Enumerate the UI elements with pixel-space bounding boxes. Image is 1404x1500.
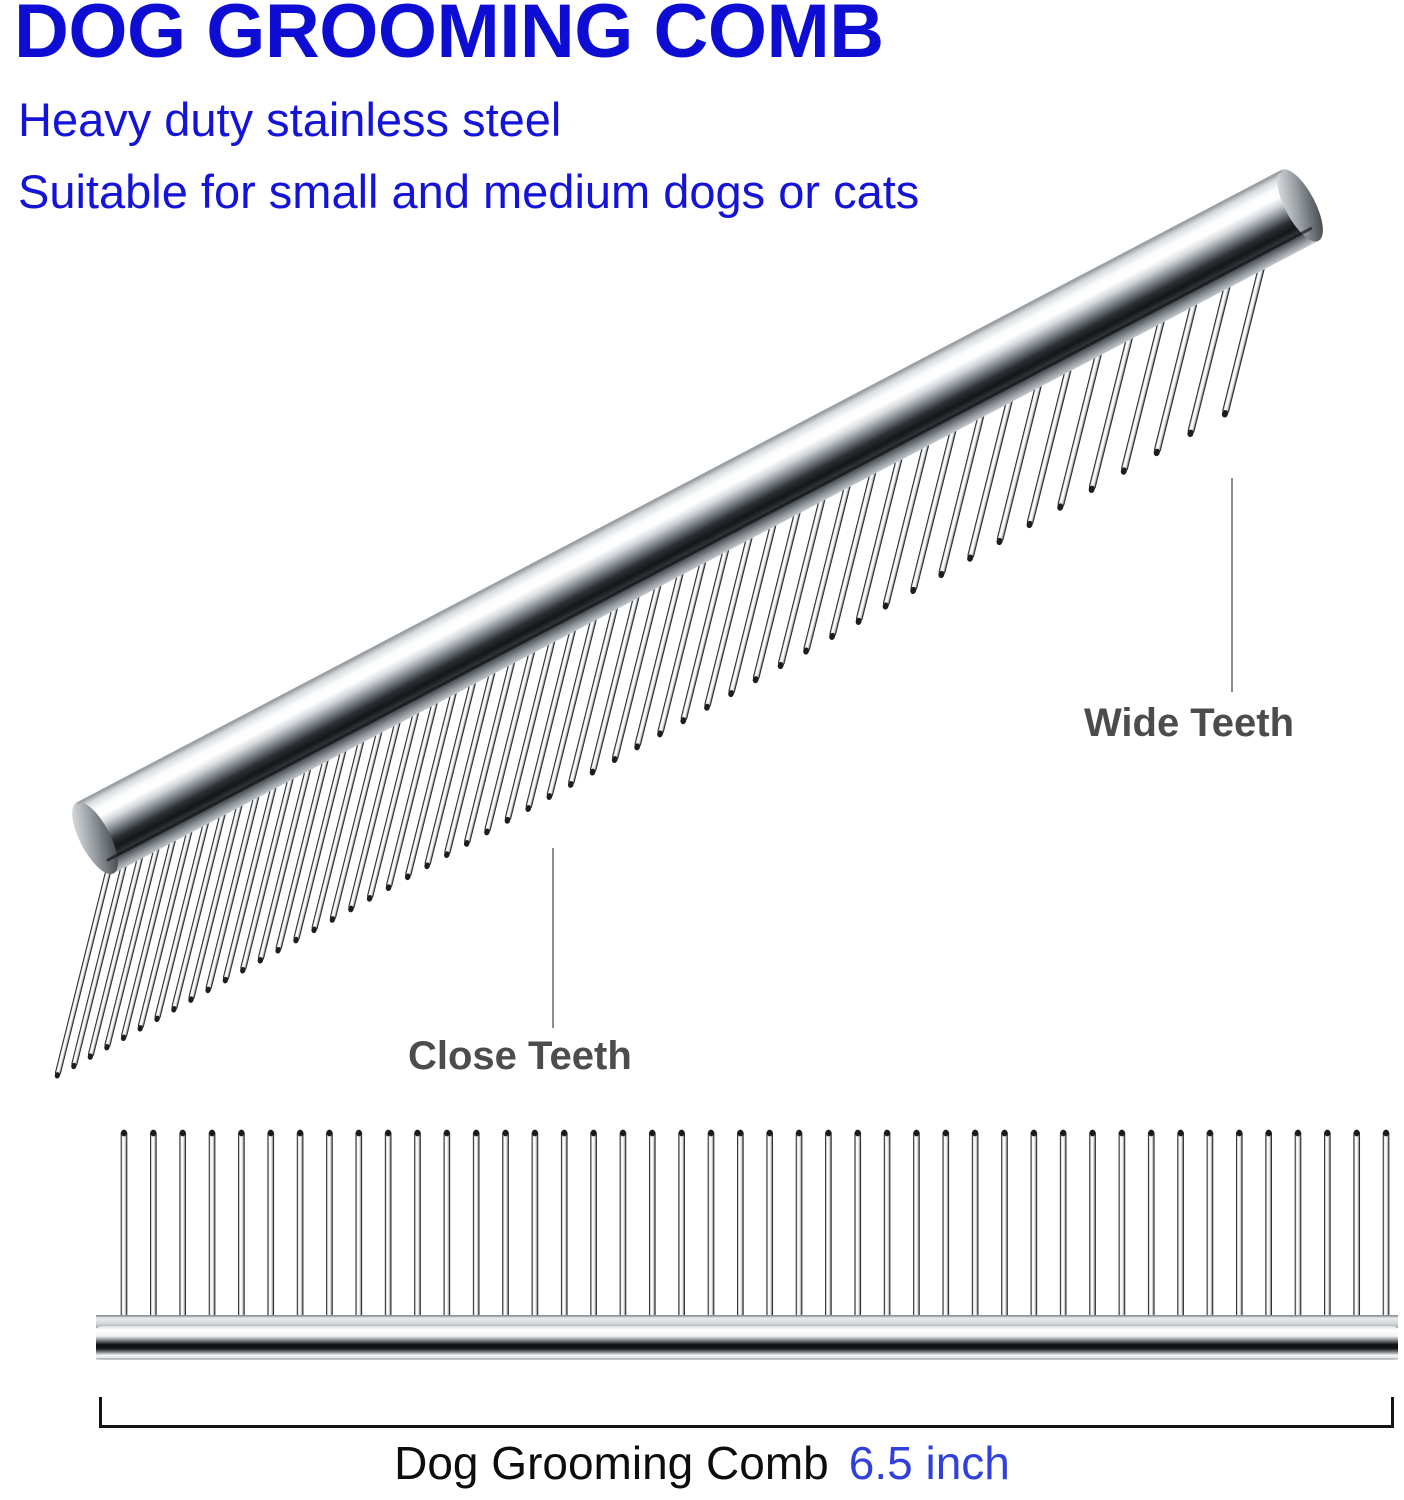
product-infographic: DOG GROOMING COMB Heavy duty stainless s… [0,0,1404,1500]
comb-side-tooth [150,1130,162,1326]
close-teeth-leader-line [552,848,554,1028]
comb-side-tooth [767,1130,779,1326]
comb-side-tooth [1178,1130,1190,1326]
comb-side-tooth [913,1130,925,1326]
comb-side-handle [96,1315,1398,1360]
comb-side-tooth [1266,1130,1278,1326]
comb-side-tooth [1031,1130,1043,1326]
comb-side-tooth [1060,1130,1072,1326]
comb-side-tooth [238,1130,250,1326]
comb-side-teeth-group [121,1130,1395,1326]
comb-side-tooth [708,1130,720,1326]
comb-side-tooth [561,1130,573,1326]
comb-side-tooth [649,1130,661,1326]
subtitle-material: Heavy duty stainless steel [18,96,561,143]
comb-side-tooth [1383,1130,1395,1326]
dimension-tick-left [99,1397,102,1428]
caption-size: 6.5 inch [849,1437,1010,1489]
comb-side-tooth [268,1130,280,1326]
comb-side-view-illustration [0,0,1404,1500]
comb-side-tooth [1002,1130,1014,1326]
comb-side-tooth [620,1130,632,1326]
comb-side-tooth [121,1130,133,1326]
comb-side-tooth [415,1130,427,1326]
comb-side-tooth [884,1130,896,1326]
comb-side-tooth [385,1130,397,1326]
comb-side-tooth [1354,1130,1366,1326]
comb-side-tooth [1090,1130,1102,1326]
comb-side-tooth [1295,1130,1307,1326]
comb-side-tooth [737,1130,749,1326]
dimension-bracket [99,1396,1394,1428]
subtitle-suitability: Suitable for small and medium dogs or ca… [18,168,919,215]
comb-side-tooth [532,1130,544,1326]
comb-side-tooth [855,1130,867,1326]
wide-teeth-leader-line [1231,478,1233,692]
comb-side-tooth [972,1130,984,1326]
comb-side-tooth [444,1130,456,1326]
comb-side-tooth [180,1130,192,1326]
comb-side-tooth [679,1130,691,1326]
dimension-tick-right [1391,1397,1394,1428]
comb-side-tooth [1148,1130,1160,1326]
comb-side-tooth [297,1130,309,1326]
comb-side-tooth [943,1130,955,1326]
comb-side-tooth [591,1130,603,1326]
comb-side-tooth [1119,1130,1131,1326]
caption-product-name: Dog Grooming Comb [394,1437,829,1489]
comb-side-tooth [1207,1130,1219,1326]
dimension-baseline [99,1425,1394,1428]
page-title: DOG GROOMING COMB [14,0,884,70]
close-teeth-label: Close Teeth [408,1036,632,1076]
comb-side-tooth [473,1130,485,1326]
comb-side-tooth [796,1130,808,1326]
wide-teeth-label: Wide Teeth [1084,703,1294,743]
bottom-caption: Dog Grooming Comb6.5 inch [0,1440,1404,1486]
comb-side-tooth [1324,1130,1336,1326]
comb-side-tooth [825,1130,837,1326]
comb-side-tooth [1236,1130,1248,1326]
comb-side-tooth [356,1130,368,1326]
comb-side-tooth [209,1130,221,1326]
comb-side-tooth [503,1130,515,1326]
comb-side-tooth [326,1130,338,1326]
